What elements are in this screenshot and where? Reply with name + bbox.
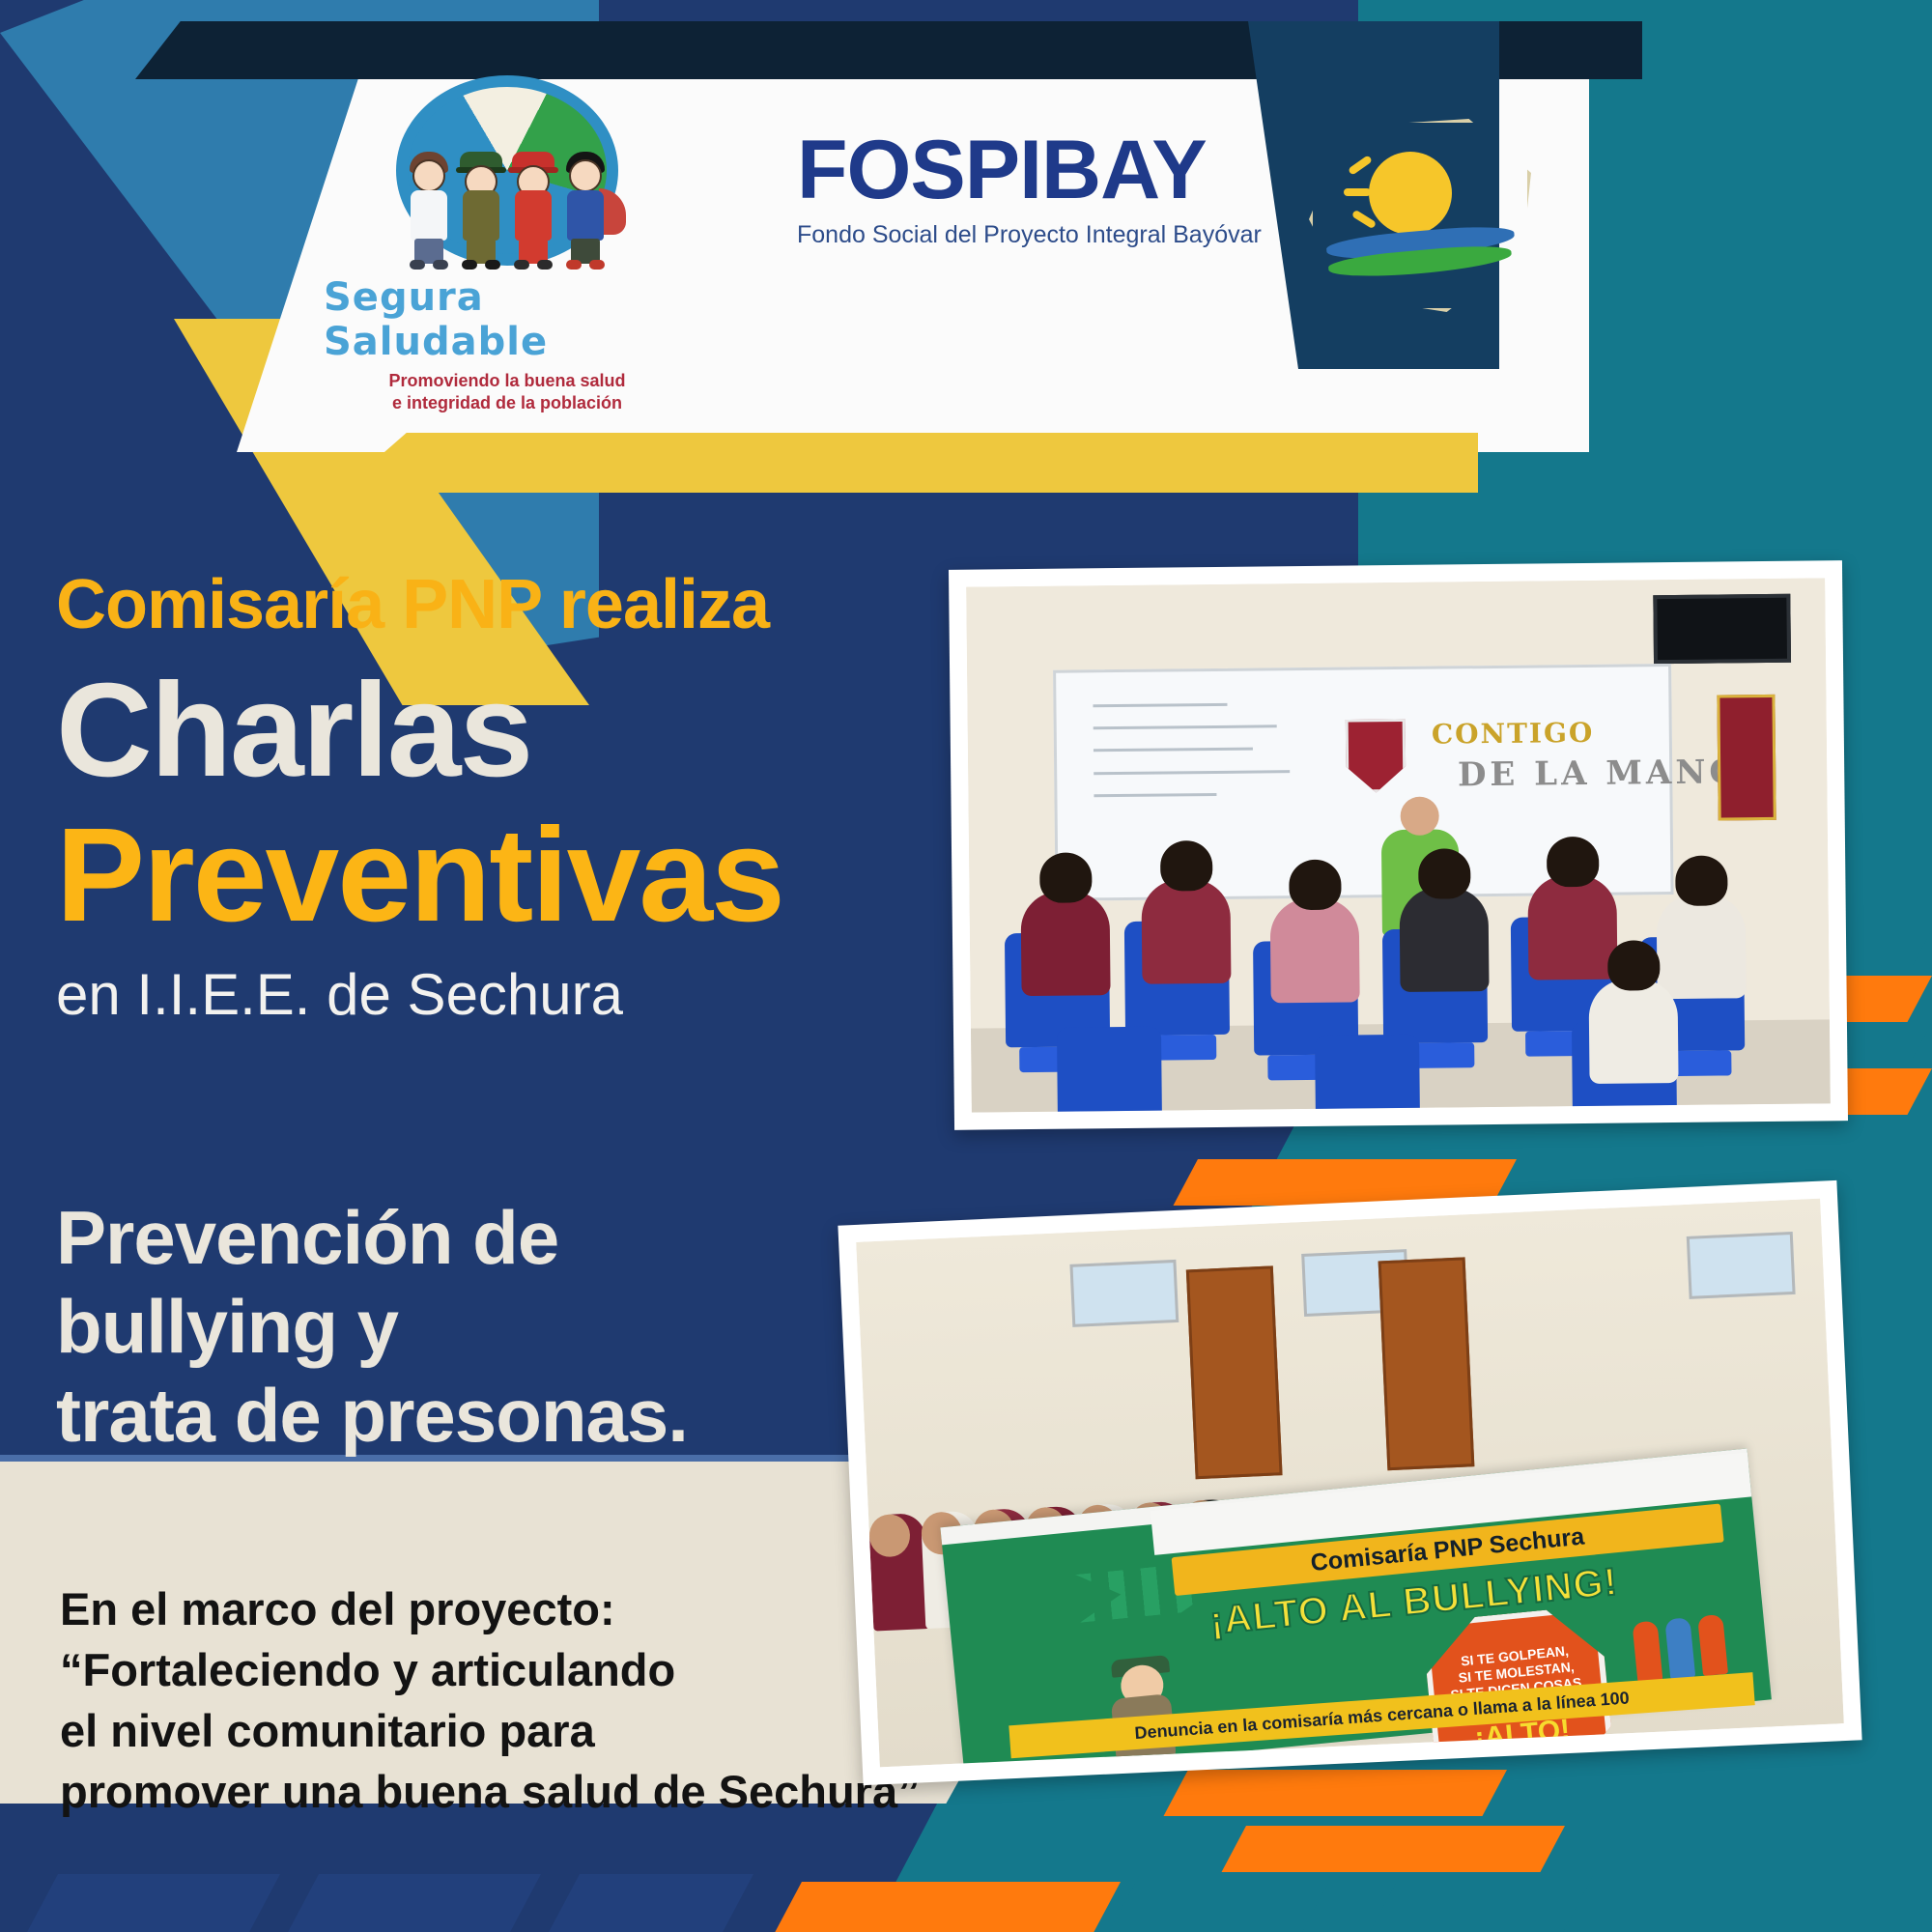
photo-group-banner-image: Comisaría PNP Sechura ¡ALTO AL BULLYING!… [856,1199,1844,1768]
poster-canvas: Segura Saludable Promoviendo la buena sa… [0,0,1932,1932]
subtitle-text: en I.I.E.E. de Sechura [56,966,790,1024]
segura-saludable-logo: Segura Saludable Promoviendo la buena sa… [324,75,691,413]
banner-kids-illustration [1633,1614,1729,1683]
topic-text: Prevención de bullying y trata de preson… [56,1193,829,1460]
stripe-orange-bottom-1 [1163,1770,1507,1816]
whiteboard-text-line-1: CONTIGO [1432,717,1595,751]
tv-screen [1654,594,1792,664]
hero-child-character [560,144,611,270]
fospibay-logo: FOSPIBAY Fondo Social del Proyecto Integ… [797,128,1531,351]
doctor-character [404,144,454,270]
globe-icon [396,75,618,266]
stripe-orange-bottom-2 [1221,1826,1565,1872]
ceremonial-flag [1717,695,1776,821]
stripe-orange-bottom-3 [775,1882,1121,1932]
stripe-teal-bottom-2 [1370,1874,1594,1932]
segura-saludable-title: Segura Saludable [324,275,691,364]
stripe-navy-bottom-3 [549,1874,753,1932]
fospibay-emblem-icon [1309,119,1531,312]
topic-line-1: Prevención de [56,1193,829,1282]
photo-classroom: CONTIGO DE LA MANO [949,560,1848,1130]
photo-group-banner: Comisaría PNP Sechura ¡ALTO AL BULLYING!… [838,1180,1861,1785]
topic-line-2: bullying y [56,1282,829,1371]
police-character [456,144,506,270]
mascot-characters [404,125,611,270]
headline-line-1: Charlas [56,667,790,794]
tagline-line-1: Promoviendo la buena salud [388,370,625,392]
topic-line-3: trata de presonas. [56,1371,829,1460]
stripe-navy-bottom-1 [27,1874,280,1932]
stripe-teal-bottom-1 [1109,1874,1333,1932]
header-logos: Segura Saludable Promoviendo la buena sa… [237,37,1589,452]
whiteboard-text-line-2: DE LA MANO [1458,753,1742,794]
segura-saludable-tagline: Promoviendo la buena salud e integridad … [388,370,625,413]
headline-line-2: Preventivas [56,811,925,939]
firefighter-character [508,144,558,270]
stripe-navy-bottom-2 [288,1874,541,1932]
photo-classroom-image: CONTIGO DE LA MANO [966,578,1831,1112]
tagline-line-2: e integridad de la población [388,392,625,414]
kicker-text: Comisaría PNP realiza [56,570,790,639]
